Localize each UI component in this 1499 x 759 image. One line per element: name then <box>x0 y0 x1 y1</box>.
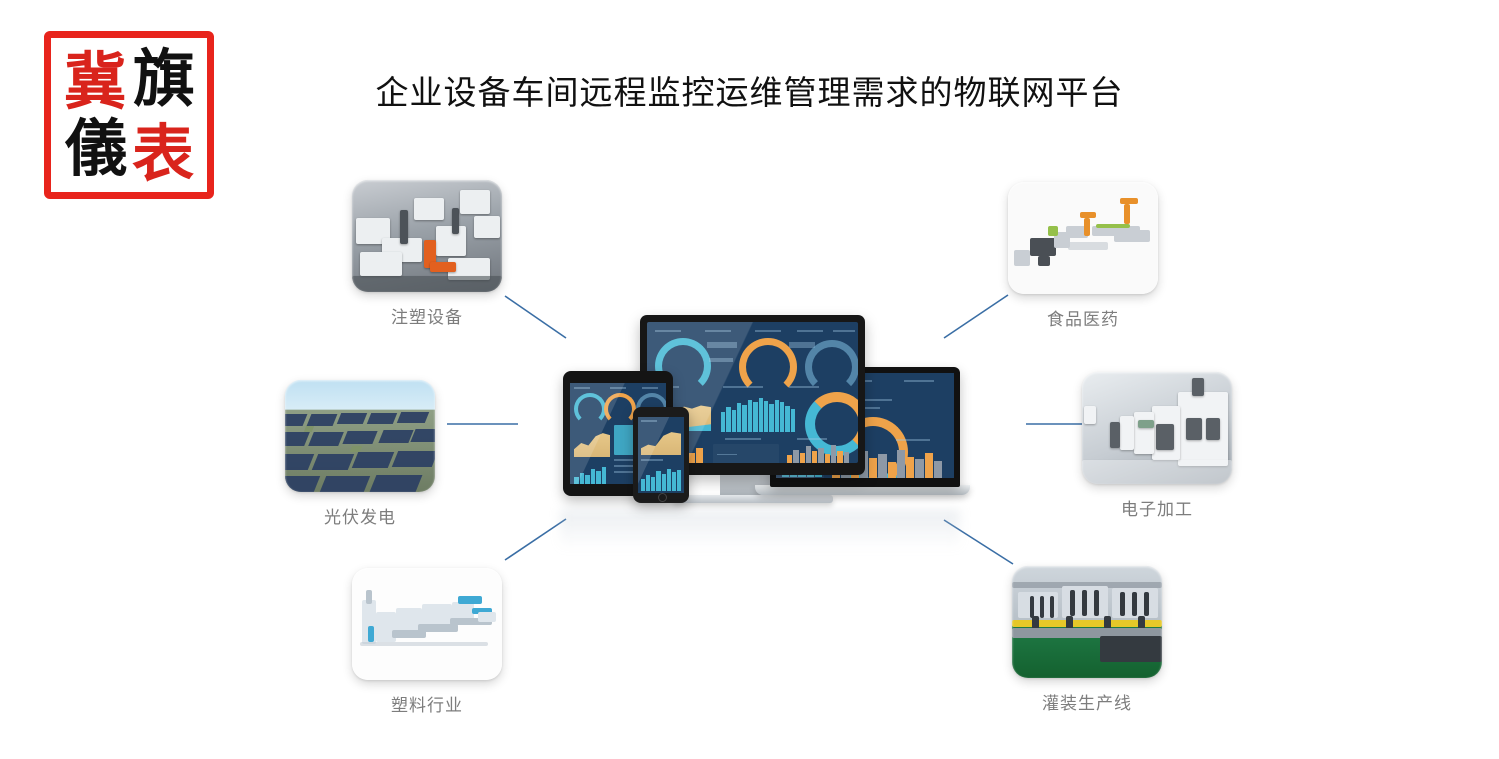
node-food-pharma[interactable]: 食品医药 <box>1008 182 1158 330</box>
device-reflection <box>560 510 960 550</box>
node-injection-molding[interactable]: 注塑设备 <box>352 180 502 328</box>
phone-home-button[interactable] <box>658 493 667 502</box>
thumbnail-injection-molding[interactable] <box>352 180 502 292</box>
label-injection-molding: 注塑设备 <box>352 303 502 328</box>
thumbnail-food-pharma[interactable] <box>1008 182 1158 294</box>
electronics-cleanroom-scene <box>1082 372 1232 484</box>
label-filling-line: 灌装生产线 <box>1012 689 1162 714</box>
node-plastics-industry[interactable]: 塑料行业 <box>352 568 502 716</box>
label-solar-power: 光伏发电 <box>285 503 435 528</box>
filling-line-scene <box>1012 566 1162 678</box>
node-filling-line[interactable]: 灌装生产线 <box>1012 566 1162 714</box>
thumbnail-electronics[interactable] <box>1082 372 1232 484</box>
node-solar-power[interactable]: 光伏发电 <box>285 380 435 528</box>
node-electronics[interactable]: 电子加工 <box>1082 372 1232 520</box>
solar-farm-scene <box>285 380 435 492</box>
monitor-stand-foot <box>673 495 833 503</box>
phone-dashboard <box>638 417 684 493</box>
plastics-line-scene <box>352 568 502 680</box>
thumbnail-plastics-industry[interactable] <box>352 568 502 680</box>
multi-device-dashboard-mockup <box>545 305 975 520</box>
device-smartphone[interactable] <box>633 407 689 503</box>
injection-molding-scene <box>352 180 502 292</box>
label-plastics-industry: 塑料行业 <box>352 691 502 716</box>
food-pharma-scene <box>1008 182 1158 294</box>
line-bottom-left <box>505 519 566 560</box>
label-food-pharma: 食品医药 <box>1008 305 1158 330</box>
thumbnail-filling-line[interactable] <box>1012 566 1162 678</box>
label-electronics: 电子加工 <box>1082 495 1232 520</box>
thumbnail-solar-power[interactable] <box>285 380 435 492</box>
phone-screen <box>638 417 684 493</box>
